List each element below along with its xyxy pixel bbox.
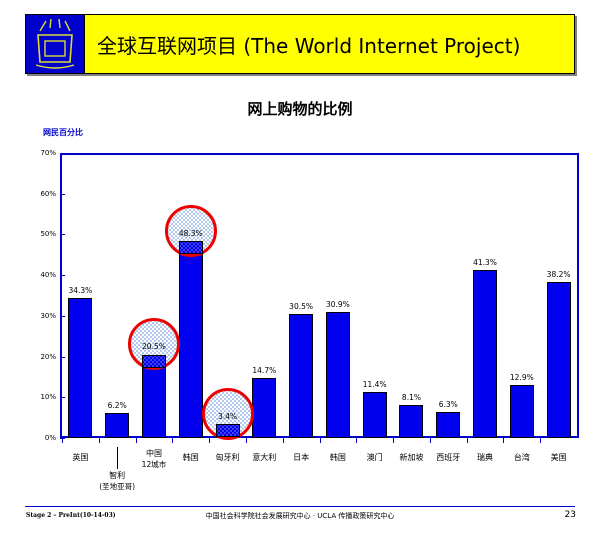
x-tick-mark bbox=[540, 438, 541, 443]
bar-highlight-segment bbox=[179, 241, 203, 254]
bar-group: 12.9% bbox=[510, 153, 534, 438]
y-axis-title: 网民百分比 bbox=[43, 127, 83, 138]
y-tick-label: 30% bbox=[40, 312, 56, 320]
x-tick-mark bbox=[356, 438, 357, 443]
x-tick-mark bbox=[246, 438, 247, 443]
bar-group: 34.3% bbox=[68, 153, 92, 438]
bar[interactable] bbox=[436, 412, 460, 438]
bar-group: 6.3% bbox=[436, 153, 460, 438]
bar-highlight-segment bbox=[142, 355, 166, 368]
x-tick-mark bbox=[99, 438, 100, 443]
y-tick-label: 20% bbox=[40, 353, 56, 361]
y-tick-mark bbox=[60, 316, 65, 317]
y-tick-label: 10% bbox=[40, 393, 56, 401]
y-tick-label: 40% bbox=[40, 271, 56, 279]
highlight-value-label: 48.3% bbox=[168, 229, 214, 238]
chart-title: 网上购物的比例 bbox=[0, 98, 600, 119]
page-title: 全球互联网项目 (The World Internet Project) bbox=[97, 30, 520, 59]
bar-value-label: 34.3% bbox=[50, 286, 110, 295]
bar[interactable] bbox=[473, 270, 497, 438]
bar-group bbox=[142, 153, 166, 438]
highlight-value-label: 3.4% bbox=[205, 412, 251, 421]
bar-value-label: 38.2% bbox=[529, 270, 589, 279]
footer-divider bbox=[25, 506, 575, 507]
x-tick-mark bbox=[172, 438, 173, 443]
bar[interactable] bbox=[510, 385, 534, 438]
header-banner: 全球互联网项目 (The World Internet Project) bbox=[25, 14, 575, 74]
y-tick-mark bbox=[60, 357, 65, 358]
monitor-logo-icon bbox=[26, 15, 85, 73]
x-tick-mark bbox=[209, 438, 210, 443]
bar-group: 38.2% bbox=[547, 153, 571, 438]
y-tick-mark bbox=[60, 194, 65, 195]
x-tick-mark bbox=[430, 438, 431, 443]
bar-value-label: 6.2% bbox=[87, 401, 147, 410]
bar-value-label: 11.4% bbox=[345, 380, 405, 389]
x-tick-mark bbox=[62, 438, 63, 443]
bar-group: 14.7% bbox=[252, 153, 276, 438]
bar[interactable] bbox=[105, 413, 129, 438]
bar-value-label: 30.9% bbox=[308, 300, 368, 309]
x-axis-label: 英国 bbox=[43, 452, 117, 463]
bar[interactable] bbox=[252, 378, 276, 438]
y-tick-label: 0% bbox=[45, 434, 56, 442]
x-tick-mark bbox=[503, 438, 504, 443]
y-tick-mark bbox=[60, 275, 65, 276]
y-tick-mark bbox=[60, 397, 65, 398]
footer-page-number: 23 bbox=[565, 510, 576, 520]
bar[interactable] bbox=[399, 405, 423, 438]
x-axis-label-main: 英国 bbox=[72, 453, 88, 462]
x-axis-label: 智利(圣地亚哥) bbox=[80, 470, 154, 492]
y-tick-label: 50% bbox=[40, 230, 56, 238]
bar-group: 30.9% bbox=[326, 153, 350, 438]
bar-value-label: 14.7% bbox=[234, 366, 294, 375]
bar-value-label: 41.3% bbox=[455, 258, 515, 267]
header-title-box: 全球互联网项目 (The World Internet Project) bbox=[85, 15, 574, 73]
x-axis-label-main: 美国 bbox=[551, 453, 567, 462]
bar-value-label: 12.9% bbox=[492, 373, 552, 382]
footer-center-text: 中国社会科学院社会发展研究中心 · UCLA 传播政策研究中心 bbox=[0, 511, 600, 521]
x-tick-mark bbox=[467, 438, 468, 443]
y-tick-label: 60% bbox=[40, 190, 56, 198]
bar-value-label: 6.3% bbox=[418, 400, 478, 409]
x-axis-label-sub: (圣地亚哥) bbox=[80, 481, 154, 492]
highlight-value-label: 20.5% bbox=[131, 342, 177, 351]
x-tick-mark bbox=[393, 438, 394, 443]
x-tick-mark bbox=[320, 438, 321, 443]
bar[interactable] bbox=[547, 282, 571, 438]
bar-group: 8.1% bbox=[399, 153, 423, 438]
bar[interactable] bbox=[179, 241, 203, 438]
x-axis-label-main: 智利 bbox=[109, 471, 125, 480]
bar-highlight-segment bbox=[216, 424, 240, 437]
plot-area: 34.3%6.2%14.7%30.5%30.9%11.4%8.1%6.3%41.… bbox=[62, 153, 577, 438]
bar[interactable] bbox=[68, 298, 92, 438]
y-tick-mark bbox=[60, 234, 65, 235]
bar-group: 41.3% bbox=[473, 153, 497, 438]
y-axis: 70%60%50%40%30%20%10%0% bbox=[0, 153, 56, 438]
bar-group: 6.2% bbox=[105, 153, 129, 438]
x-axis-label: 美国 bbox=[522, 452, 596, 463]
x-tick-mark bbox=[283, 438, 284, 443]
bar-group: 30.5% bbox=[289, 153, 313, 438]
bar-group bbox=[179, 153, 203, 438]
bar[interactable] bbox=[289, 314, 313, 438]
y-tick-label: 70% bbox=[40, 149, 56, 157]
x-tick-mark bbox=[136, 438, 137, 443]
bar[interactable] bbox=[326, 312, 350, 438]
